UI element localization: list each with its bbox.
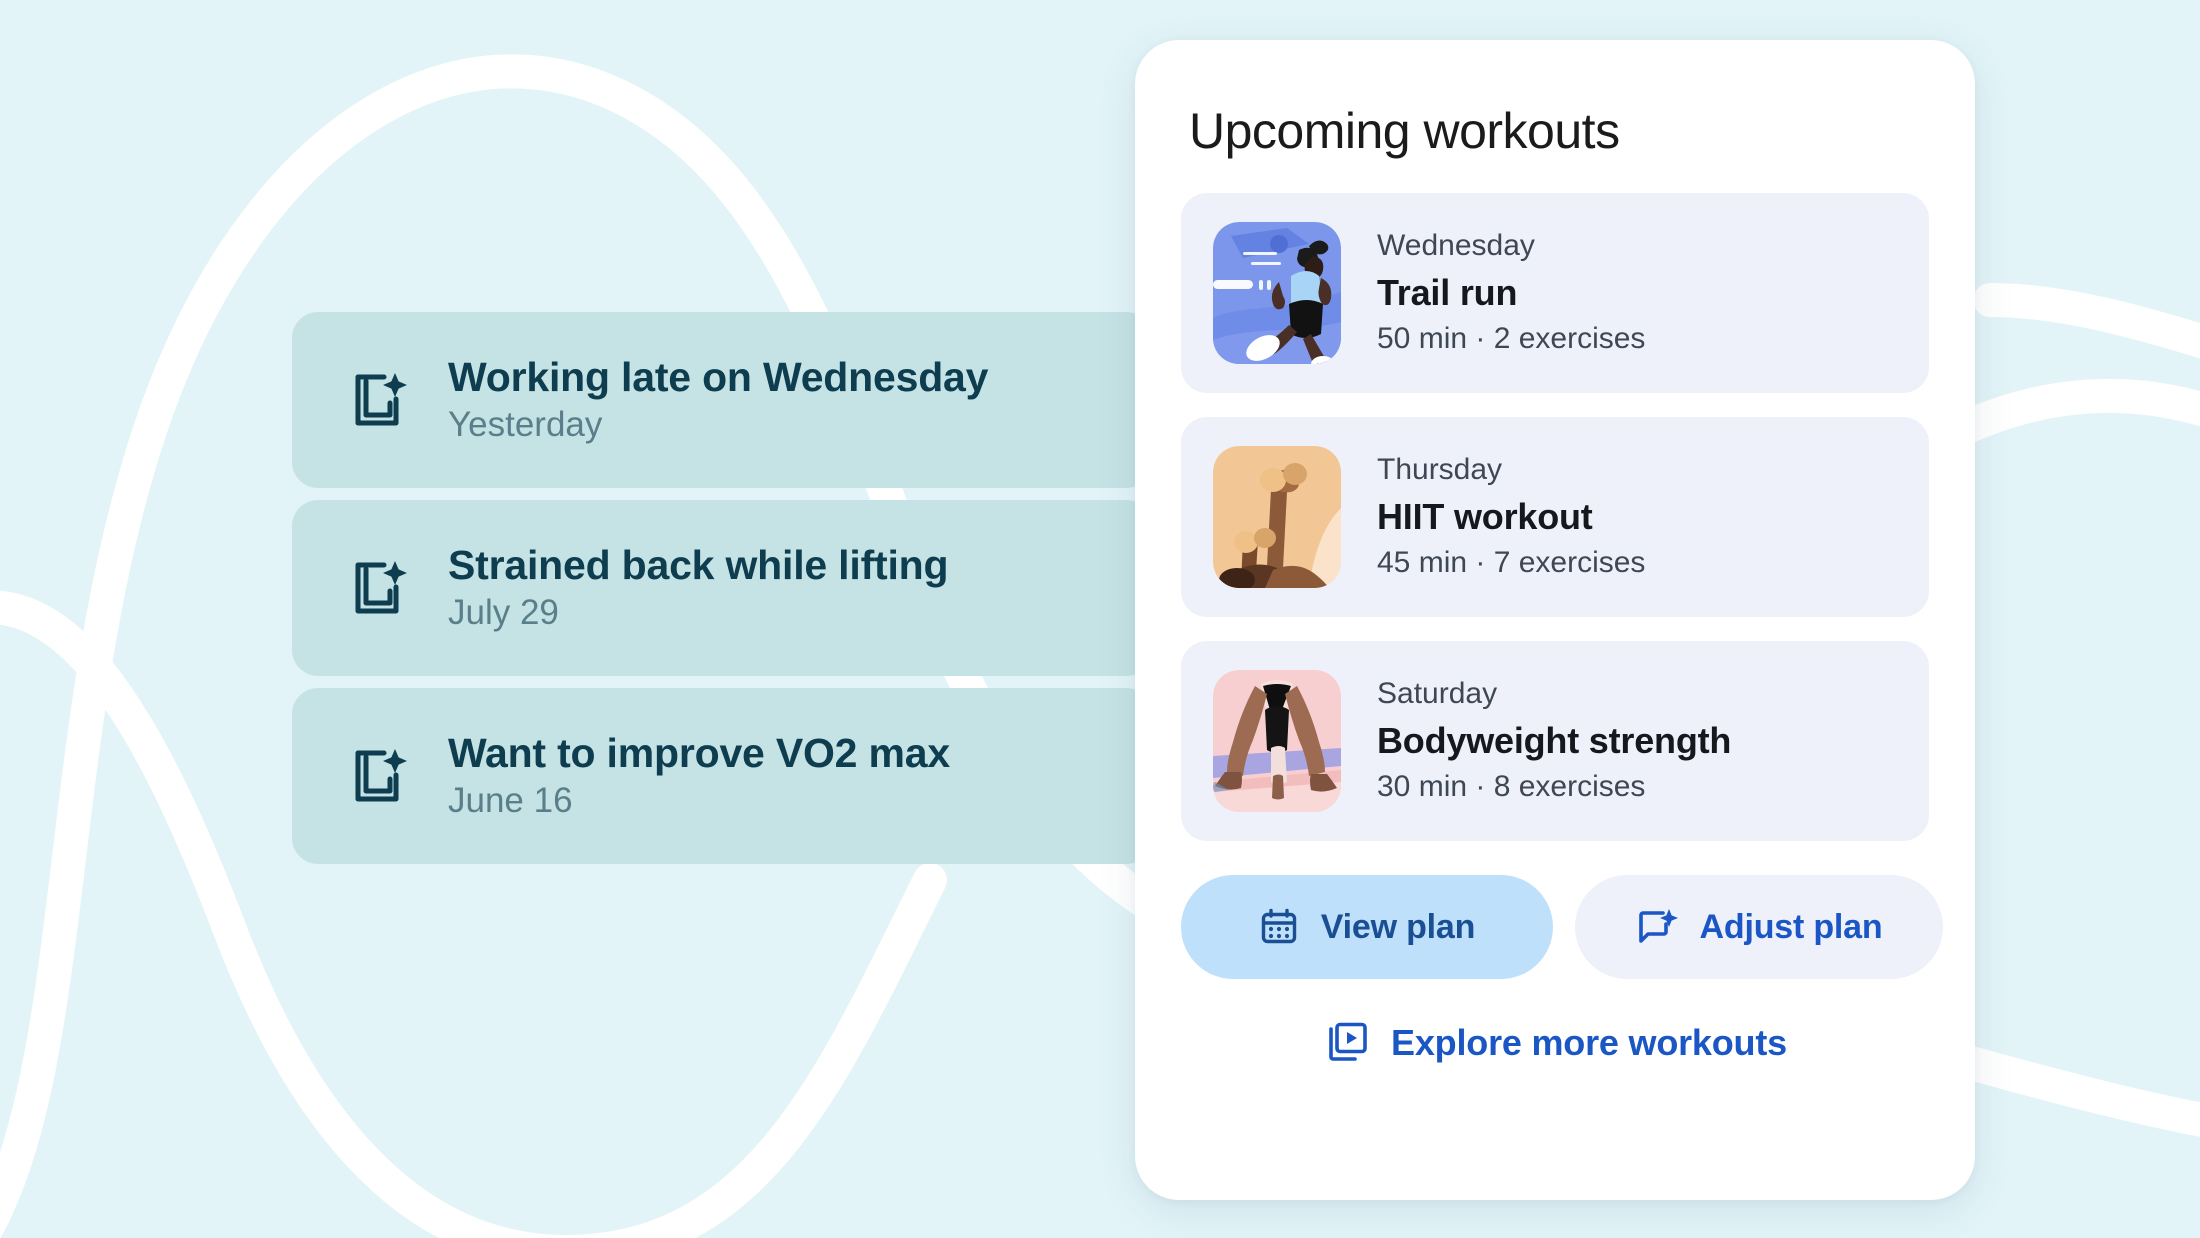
list-item-title: Working late on Wednesday: [448, 355, 988, 400]
list-item[interactable]: Strained back while lifting July 29: [292, 500, 1152, 676]
chat-sparkle-icon: [1636, 907, 1678, 947]
explore-more-workouts-link[interactable]: Explore more workouts: [1181, 1021, 1929, 1065]
list-item[interactable]: Want to improve VO2 max June 16: [292, 688, 1152, 864]
workout-card[interactable]: Thursday HIIT workout 45 min · 7 exercis…: [1181, 417, 1929, 617]
trail-run-thumbnail: [1213, 222, 1341, 364]
upcoming-workouts-panel: Upcoming workouts: [1135, 40, 1975, 1200]
workout-card[interactable]: Saturday Bodyweight strength 30 min · 8 …: [1181, 641, 1929, 841]
list-item-text: Working late on Wednesday Yesterday: [448, 355, 988, 445]
workout-card[interactable]: Wednesday Trail run 50 min · 2 exercises: [1181, 193, 1929, 393]
workout-day: Wednesday: [1377, 226, 1645, 267]
list-item-text: Strained back while lifting July 29: [448, 543, 948, 633]
list-item-date: July 29: [448, 594, 948, 633]
note-sparkle-icon: [350, 745, 408, 807]
list-item-date: Yesterday: [448, 406, 988, 445]
explore-more-workouts-label: Explore more workouts: [1391, 1022, 1787, 1064]
workout-detail: 30 min · 8 exercises: [1377, 767, 1731, 808]
workout-name: Bodyweight strength: [1377, 717, 1731, 766]
list-item-date: June 16: [448, 782, 950, 821]
workout-name: Trail run: [1377, 269, 1645, 318]
note-sparkle-icon: [350, 369, 408, 431]
workout-detail: 45 min · 7 exercises: [1377, 543, 1645, 584]
adjust-plan-label: Adjust plan: [1700, 908, 1883, 947]
hiit-workout-thumbnail: [1213, 446, 1341, 588]
workout-meta: Wednesday Trail run 50 min · 2 exercises: [1377, 226, 1645, 360]
page-title: Upcoming workouts: [1189, 104, 1929, 159]
view-plan-label: View plan: [1321, 908, 1475, 947]
video-library-icon: [1323, 1021, 1369, 1065]
history-list: Working late on Wednesday Yesterday Stra…: [292, 312, 1152, 864]
workout-meta: Thursday HIIT workout 45 min · 7 exercis…: [1377, 450, 1645, 584]
workout-name: HIIT workout: [1377, 493, 1645, 542]
view-plan-button[interactable]: View plan: [1181, 875, 1553, 979]
list-item[interactable]: Working late on Wednesday Yesterday: [292, 312, 1152, 488]
workout-detail: 50 min · 2 exercises: [1377, 319, 1645, 360]
panel-actions: View plan Adjust plan: [1181, 875, 1929, 979]
bodyweight-strength-thumbnail: [1213, 670, 1341, 812]
workout-day: Thursday: [1377, 450, 1645, 491]
list-item-text: Want to improve VO2 max June 16: [448, 731, 950, 821]
workout-meta: Saturday Bodyweight strength 30 min · 8 …: [1377, 674, 1731, 808]
adjust-plan-button[interactable]: Adjust plan: [1575, 875, 1943, 979]
workout-day: Saturday: [1377, 674, 1731, 715]
note-sparkle-icon: [350, 557, 408, 619]
list-item-title: Want to improve VO2 max: [448, 731, 950, 776]
calendar-icon: [1259, 907, 1299, 947]
workout-list: Wednesday Trail run 50 min · 2 exercises: [1181, 193, 1929, 841]
list-item-title: Strained back while lifting: [448, 543, 948, 588]
app-stage: Working late on Wednesday Yesterday Stra…: [0, 0, 2200, 1238]
